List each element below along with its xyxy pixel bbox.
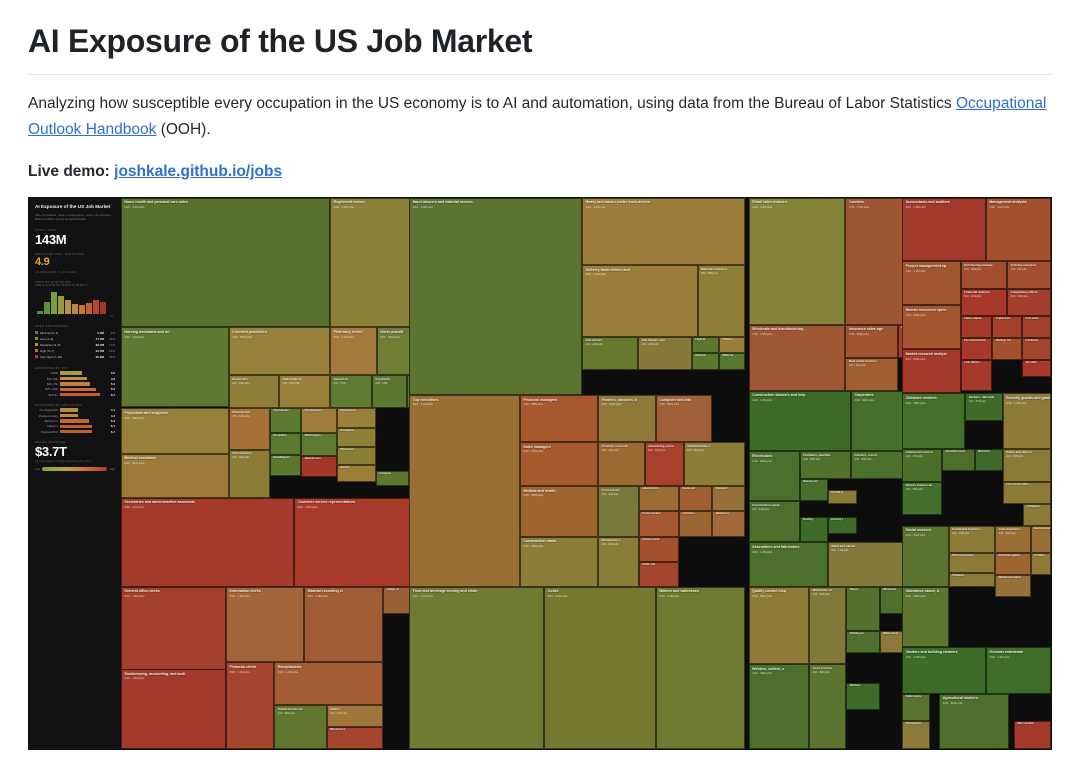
tile-score-jobs: 9/10 · 1.6M jobs [903,205,985,210]
tile-occupation-name: Bakers [847,588,878,592]
tile-score-jobs: 3/10 · 142k [373,381,405,385]
treemap-tile[interactable]: Water tra 3/10 · 70k [719,353,745,370]
treemap-tile[interactable]: Childcare workers 2/10 · 980k jobs [902,393,965,448]
tile-score-jobs: 2/10 · 360k jobs [810,670,845,674]
treemap-tile[interactable]: Taxi drivers, shu 3/10 · 440k jobs [638,337,692,370]
treemap-tile[interactable]: Plumbers, pipefitte 3/10 · 500k jobs [800,451,851,479]
treemap-tile[interactable]: Management analysts 7/10 · 1.0M jobs [986,198,1051,261]
tile-score-jobs: 5/10 · 320k jobs [599,543,638,547]
edu-bar [60,430,92,433]
tile-occupation-name: Social/appren [271,456,301,460]
area-breakdown-table: Minimal (0–1) 5.2M 4% Low (1–3) 47.2M 33… [35,330,115,360]
tile-score-jobs: 2/10 · 900k jobs [852,397,904,402]
treemap-tile[interactable]: Carpenters 2/10 · 900k jobs [851,391,905,452]
treemap-tile[interactable]: Construction equip 2/10 · 540k jobs [749,501,800,542]
tile-occupation-name: Social and [680,487,711,491]
edu-label: EXPOSURE BY EDUCATION [35,404,115,407]
treemap-tile[interactable]: Painting wo 2/10 · 140k [846,631,879,653]
edu-label: Bachelor's [35,419,58,423]
tile-score-jobs: 2/10 · 1.0M jobs [122,334,228,339]
exposure-by-education-chart: No degree/HS 4.1 Postsecondary 4.2 Bache… [35,408,115,434]
treemap-tile[interactable]: Psychiatri 3/10 · 142k [372,375,406,408]
treemap-tile[interactable]: Postsecondary 7/10 · 199k jobs [639,511,679,536]
treemap-tile[interactable]: Personal financial 9/10 · 283k jobs [961,338,993,360]
tile-occupation-name: Industrial enginee [996,554,1029,558]
treemap-tile[interactable]: Roofing 1/10 · 161k [800,517,828,542]
tile-score-jobs: 9/10 · 410k jobs [962,295,1007,299]
treemap-tile[interactable]: Bookkeeping, accounting, and audi 9/10 ·… [121,669,226,749]
tile-occupation-name: Probation [950,574,995,578]
intro-paragraph: Analyzing how susceptible every occupati… [28,91,1052,141]
tile-occupation-name: Airline p [720,338,744,342]
treemap-tile[interactable]: Industrial pro 6/10 · 310k jobs [639,486,679,511]
tile-score-jobs: 6/10 · 1.1M jobs [331,334,376,339]
pay-value: 4.6 [111,377,115,381]
tile-score-jobs: 7/10 · 1.0M jobs [987,205,1050,210]
treemap-tile[interactable]: Financial managers 7/10 · 985k jobs [520,395,598,442]
treemap-tile[interactable]: Barbers, hairstyle 1/10 · 374k jobs [965,393,1002,421]
tile-occupation-name: Fundraiser [1023,339,1050,343]
breakdown-label: Very high (7–10) [40,354,86,360]
edu-value: 4.1 [111,408,115,412]
treemap-tile[interactable]: Wholesale and manufacturing 7/10 · 1.5M … [749,325,846,391]
treemap-tile[interactable]: Electricians 2/10 · 815k jobs [749,451,800,501]
treemap-tile[interactable]: Delivery truck drivers and 4/10 · 1.1M j… [582,265,697,337]
color-legend: Low High [35,467,115,471]
treemap-tile[interactable]: Industrial enginee 4/10 · 313k jobs [995,553,1030,575]
tile-score-jobs: 3/10 · 2.1M jobs [657,594,744,599]
treemap-tile[interactable]: Financial clerks 8/10 · 1.1M jobs [226,662,274,749]
tile-occupation-name: Flight at [693,338,718,342]
treemap-tile[interactable]: Flooring i 1/10 · 90k [828,517,857,534]
edu-bar [60,425,92,428]
treemap-visualization[interactable]: AI Exposure of the US Job Market 342 occ… [28,197,1052,750]
treemap-tile[interactable]: Architects 5/10 · 130k [679,511,712,536]
tile-occupation-name: Physician as [338,409,375,413]
tile-occupation-name: Claims adjuste [962,317,992,321]
treemap-tile[interactable]: Bus drivers 2/10 · 440k jobs [582,337,638,370]
tile-score-jobs: 3/10 · 4.1M jobs [410,594,543,599]
tile-score-jobs: 4/10 · 1.1M jobs [583,272,696,277]
edu-row: Master's 6.7 [35,424,115,428]
treemap-tile[interactable]: Janitors and building cleaners 1/10 · 2.… [902,647,986,693]
treemap-tile[interactable]: Construction mana 3/10 · 500k jobs [520,537,598,587]
tile-occupation-name: Personal financial [962,339,992,343]
tile-occupation-name: Occupation [271,434,301,438]
live-demo-link[interactable]: joshkale.github.io/jobs [114,163,282,180]
tile-occupation-name: Physical as [338,448,375,452]
tile-score-jobs: 1/10 · 1.3M jobs [987,654,1050,659]
tile-occupation-name: Roofing [801,518,827,522]
treemap-tile[interactable]: Occupation 2/10 · 155k [337,428,376,447]
tile-occupation-name: Occupation [338,429,375,433]
tile-occupation-name: Drywall pl [829,491,856,495]
tile-occupation-name: Painting wo [847,632,878,636]
treemap-tile[interactable]: Probation 4/10 · 90k [949,573,996,587]
treemap-tile[interactable]: Physical thera 5/10 · 190k [301,408,336,432]
treemap-tile[interactable]: Food process 2/10 · 360k jobs [809,664,846,749]
histogram-bar [86,303,92,314]
treemap-tile[interactable]: Physical ther 2/10 · 265k jobs [270,408,302,433]
viz-subtitle: 342 occupations · area = employment · co… [35,213,115,222]
tile-occupation-name: Meeting, con [993,339,1021,343]
tile-score-jobs: 4/10 · 657k jobs [230,334,329,339]
treemap-tile[interactable]: Substance abuse, b 3/10 · 450k jobs [902,587,949,648]
pay-bar [60,382,90,385]
tile-occupation-name: Public works [903,695,929,699]
edu-row: Bachelor's 6.3 [35,419,115,423]
treemap-tile[interactable]: Cost estim 8/10 · 210k [1022,316,1051,338]
treemap-tile[interactable]: Meeting, con 7/10 · 140k [992,338,1022,360]
treemap-tile[interactable]: Correctional office 2/10 · 411k jobs [1003,482,1051,504]
edu-bar [60,408,78,411]
tile-score-jobs: 1/10 · 1.8M jobs [750,397,850,402]
pay-label: <$40k [35,371,58,375]
avg-exposure-value: 4.9 [35,257,115,269]
treemap-tile[interactable]: Claims adjuste 9/10 · 320k jobs [961,316,993,338]
tile-score-jobs: 7/10 · 607k jobs [657,402,711,407]
tile-score-jobs: 4/10 · 2.2M jobs [583,205,744,210]
tile-score-jobs: 4/10 · 177k [331,381,371,385]
tile-occupation-name: Electrical and e [1032,527,1050,531]
treemap-tile[interactable]: Doctors 4/10 · 110k [337,465,376,482]
treemap-tile[interactable]: Pharmacy techni 6/10 · 1.1M jobs [330,327,377,375]
tile-score-jobs: 4/10 · 310k jobs [685,448,744,452]
treemap-tile[interactable]: School and career 3/10 · 370k jobs [949,553,996,572]
treemap-tile[interactable]: Receptionists 7/10 · 1.0M jobs [274,662,383,705]
tile-score-jobs: 7/10 · 1.5M jobs [750,331,845,336]
treemap-tile[interactable]: Human resour 7/10 · 220k [639,537,679,562]
tile-score-jobs: 2/10 · 860k jobs [940,700,1008,705]
tile-occupation-name: Masonry wo [801,480,827,484]
tile-score-jobs: 2/10 · 380k jobs [852,457,904,461]
wages-value: $3.7T [35,445,115,459]
histogram-bar [100,302,106,314]
treemap-tile[interactable]: Loan officers 9/10 · 180k jobs [961,360,993,390]
treemap-tile[interactable]: Civil engineers 4/10 · 330k jobs [995,526,1030,554]
pay-bar [60,393,100,396]
tile-score-jobs: 3/10 · 500k jobs [801,457,850,461]
title-divider [28,74,1052,75]
tile-occupation-name: Industrial pro [640,487,678,491]
treemap-tile[interactable]: Railroad 4/10 · 80k [692,353,719,370]
treemap-tile[interactable]: Metal and plastic 2/10 · 1.1M jobs [828,542,905,587]
tile-score-jobs: 1/10 · 374k jobs [966,399,1001,403]
treemap-tile[interactable]: Information clerks 7/10 · 1.3M jobs [226,587,304,662]
treemap-tile[interactable]: Security guards and gambling su 2/10 · 1… [1003,393,1051,448]
viz-title: AI Exposure of the US Job Market [35,204,115,210]
treemap-tile[interactable]: Photographe 4/10 · 70k [902,721,930,749]
tile-score-jobs: 4/10 · 698k jobs [122,415,228,420]
treemap-tile[interactable]: Data scientist 9/10 · 200k [1014,721,1051,749]
treemap-tile[interactable]: Social and 5/10 · 170k [679,486,712,511]
edu-label: Postsecondary [35,414,58,418]
pay-row: $60–75k 5.0 [35,382,115,386]
treemap-tile[interactable]: Electrical and e 4/10 · 190k jobs [1031,526,1051,554]
treemap-tile[interactable]: Dietat wkrs 3/10 · 260k jobs [229,375,279,408]
treemap-tile[interactable]: Machinists an 2/10 · 390k jobs [809,587,846,664]
histogram-bar [51,292,57,314]
treemap-tile[interactable]: Material moving w 3/10 · 685k jobs [698,265,745,337]
pay-label: $75–100k [35,387,58,391]
treemap-tile[interactable]: Medical recor 9/10 · 186k [301,456,336,477]
histogram-tick: 0 [37,315,38,318]
treemap-tile[interactable]: Construction laborers and help 1/10 · 1.… [749,391,851,452]
treemap-tile[interactable]: Purchasing manage 7/10 · 606k jobs [961,261,1008,289]
tile-score-jobs: 6/10 · 400k jobs [599,448,644,452]
pay-label: $100k+ [35,393,58,397]
treemap-tile[interactable]: Compone 2/10 · 60k [376,471,409,486]
tile-score-jobs: 8/10 · 1.8M jobs [122,594,225,599]
treemap-tile[interactable]: Material recording cl 3/10 · 1.3M jobs [304,587,383,662]
pay-bar [60,371,82,374]
treemap-tile[interactable]: Radiologic an 4/10 · 227k jobs [279,375,330,408]
treemap-tile[interactable]: Financial analysts 9/10 · 410k jobs [961,289,1008,317]
tile-score-jobs: 3/10 · 580k jobs [750,594,808,599]
treemap-tile[interactable]: Physician as 4/10 · 161k [337,408,376,428]
treemap-tile[interactable]: Flight at 3/10 · 120k [692,337,719,354]
treemap-tile[interactable]: Project management sp 7/10 · 1.0M jobs [902,261,961,305]
treemap-tile[interactable]: Public works 3/10 · 80k [902,694,930,722]
tile-score-jobs: 2/10 · 440k jobs [583,343,637,347]
treemap-tile[interactable]: Market research analyst 9/10 · 843k jobs [902,349,961,393]
tile-score-jobs: 1/10 · 375k jobs [903,488,941,492]
live-demo-line: Live demo: joshkale.github.io/jobs [28,160,1052,183]
tile-score-jobs: 2/10 · 1.2M jobs [750,549,827,554]
tile-occupation-name: Correctional office [1004,483,1050,487]
tile-score-jobs: 6/10 · 590k jobs [521,493,597,498]
tile-score-jobs: 3/10 · 440k jobs [639,343,691,347]
tile-score-jobs: 2/10 · 4.1M jobs [122,205,329,210]
tile-occupation-name: Doctors [338,466,375,470]
treemap-tile[interactable]: Welders, cutters, s 2/10 · 430k jobs [749,664,809,749]
breakdown-row: Very high (7–10) 25.2M 25% [35,354,115,360]
treemap-tile[interactable]: Elementary s 5/10 · 320k jobs [598,537,639,587]
pay-value: 5.0 [111,382,115,386]
tile-score-jobs: 3/10 · 366k jobs [230,456,269,460]
treemap-tile[interactable]: Social workers 3/10 · 811k jobs [902,526,949,587]
exposure-by-pay-chart: <$40k 3.6 $40–60k 4.6 $60–75k 5.0 $75–10… [35,371,115,397]
tile-score-jobs: 2/10 · 1.1M jobs [829,548,904,552]
treemap-tile[interactable]: Dietat hygien 3/10 · 213k [301,433,336,456]
tile-occupation-name: Medical recor [302,457,335,461]
histogram-bar [72,304,78,314]
treemap-tile[interactable]: Animal care and se 2/10 · 470k jobs [902,449,942,482]
treemap-tile[interactable]: Compliance officer 8/10 · 410k jobs [1007,289,1051,317]
exposure-histogram [35,292,115,314]
edu-row: Doctoral/Prof 6.7 [35,430,115,434]
treemap-tile[interactable]: Drywall pl 3/10 · 150k [828,490,857,504]
tile-occupation-name: Natural sci [713,512,744,516]
tile-occupation-name: Architects [680,512,711,516]
tile-occupation-name: Woodwork [881,588,904,592]
treemap-tile[interactable]: Nursing assistants and ori 2/10 · 1.0M j… [121,327,229,407]
treemap-tile[interactable]: Occupation 2/10 · 141k [270,433,302,455]
tile-occupation-name: Recreation work [943,450,974,454]
tile-score-jobs: 7/10 · 1.3M jobs [227,594,303,599]
histogram-sublabel: (WEIGHTED BY EMPLOYMENT) [35,284,115,287]
tile-occupation-name: Architect [1032,554,1050,558]
treemap-tile[interactable]: Top executives 6/10 · 4.1M jobs [409,395,520,587]
tile-score-jobs: 2/10 · 540k jobs [750,507,799,511]
pay-value: 6.0 [111,387,115,391]
treemap-tile[interactable]: Home health and personal care aides 2/10… [121,198,330,327]
treemap-tile[interactable]: Fundraiser 8/10 · 120k [1022,338,1051,360]
histogram-bar [93,300,99,314]
treemap-tile[interactable]: Medical assistants 6/10 · 815k jobs [121,454,229,498]
treemap-tile[interactable]: Administrative s 4/10 · 310k jobs [684,442,745,486]
tile-occupation-name: Physical thera [302,409,335,413]
pay-row: $75–100k 6.0 [35,387,115,391]
treemap-tile[interactable]: Licensed practical a 4/10 · 657k jobs [229,327,330,375]
treemap-tile[interactable]: Assemblers and fabricators 2/10 · 1.2M j… [749,542,828,587]
treemap-tile[interactable]: Food service 4/10 · 320k jobs [598,486,639,537]
edu-value: 6.7 [111,424,115,428]
treemap-tile[interactable]: Judges, m 5/10 · 60k [383,587,411,615]
tile-occupation-name: Butchers [847,684,878,688]
tile-score-jobs: 9/10 · 1.6M jobs [122,676,225,681]
tile-score-jobs: 2/10 · 1.3M jobs [1004,400,1050,405]
treemap-tile[interactable]: Retail sales workers 4/10 · 4.0M jobs [749,198,846,325]
edu-value: 6.7 [111,430,115,434]
legend-low-label: Low [35,468,40,471]
treemap-tile[interactable]: Recreation work 2/10 · 430k jobs [942,449,975,471]
tile-score-jobs: 6/10 · 622k jobs [521,449,597,454]
tile-occupation-name: Tax exam [1023,361,1050,365]
tile-score-jobs: 2/10 · 430k jobs [750,671,808,676]
histogram-axis: 0510 [35,314,115,318]
tile-occupation-name: Firefighters [1024,505,1050,509]
treemap-tile[interactable]: Painters, constr 2/10 · 380k jobs [851,451,905,479]
treemap-tile[interactable]: Bill and acco 8/10 · 311k jobs [327,727,384,748]
tile-occupation-name: Transport [713,487,744,491]
tile-occupation-name: Compone [377,472,408,476]
treemap-tile[interactable]: Grounds maintenan 1/10 · 1.3M jobs [986,647,1051,693]
tile-score-jobs: 4/10 · 320k jobs [599,492,638,496]
treemap-tile[interactable]: Secretaries and administrative assistant… [121,498,294,587]
treemap-tile[interactable]: Quality control insp 3/10 · 580k jobs [749,587,809,664]
intro-text-after: (OOH). [156,121,210,138]
tile-score-jobs: 1/10 · 2.4M jobs [903,654,985,659]
tile-score-jobs: 7/10 · 1.0M jobs [903,268,960,273]
treemap-canvas[interactable]: Home health and personal care aides 2/10… [121,198,1051,749]
treemap-tile[interactable]: Hand laborers and material movers 2/10 ·… [409,198,582,395]
treemap-tile[interactable]: Butchers 1/10 · 130k [846,683,879,711]
treemap-tile[interactable]: Pharmacists 7/10 · 333k jobs [229,408,270,449]
treemap-tile[interactable]: Farmers, ranchers, a 4/10 · 826k jobs [598,395,656,442]
pay-label: $40–60k [35,377,58,381]
breakdown-value: 25.2M [86,354,104,360]
viz-sidebar: AI Exposure of the US Job Market 342 occ… [29,198,121,749]
treemap-tile[interactable]: Food and beverage serving and relate 3/1… [409,587,544,749]
treemap-tile[interactable]: Cooks 4/10 · 2.4M jobs [544,587,656,749]
treemap-tile[interactable]: Social and human s 3/10 · 430k jobs [949,526,996,554]
tile-score-jobs: 7/10 · 90k jobs [1008,267,1050,271]
treemap-tile[interactable]: Tellers 2/10 · 347k jobs [327,705,384,727]
pay-row: $40–60k 4.6 [35,377,115,381]
tile-score-jobs: 7/10 · 844k jobs [903,312,960,317]
treemap-tile[interactable]: Accountants and auditors 9/10 · 1.6M job… [902,198,986,261]
treemap-tile[interactable]: Waiters and waitresses 3/10 · 2.1M jobs [656,587,745,749]
edu-bar [60,414,78,417]
edu-bar [60,419,89,422]
treemap-tile[interactable]: Fitness trainers an 1/10 · 375k jobs [902,482,942,515]
tile-score-jobs: 9/10 · 3.1M jobs [122,504,293,509]
tile-score-jobs: 8/10 · 410k jobs [1008,295,1050,299]
treemap-tile[interactable]: Tax exam 9/10 · 50k [1022,360,1051,377]
pay-row: $100k+ 6.7 [35,393,115,397]
histogram-bar [44,302,50,314]
treemap-tile[interactable]: Computer and info 7/10 · 607k jobs [656,395,712,442]
treemap-tile[interactable]: Medical and health 6/10 · 590k jobs [520,486,598,537]
tile-score-jobs: 4/10 · 826k jobs [599,402,655,407]
tile-occupation-name: Judges, m [384,588,410,592]
treemap-tile[interactable]: Advertising, prom 8/10 · 330k jobs [645,442,684,486]
tile-score-jobs: 4/10 · 330k jobs [996,532,1029,536]
edu-row: No degree/HS 4.1 [35,408,115,412]
tile-occupation-name: Postsecondary [640,512,678,516]
tile-score-jobs: 4/10 · 500k jobs [275,711,325,715]
tile-occupation-name: Cost estim [1023,317,1050,321]
treemap-tile[interactable]: Postal service wo 4/10 · 500k jobs [274,705,326,749]
treemap-tile[interactable]: Natural sci 5/10 · 90k [712,511,745,536]
treemap-tile[interactable]: Manicuris 1/10 · 160k [975,449,1003,471]
tile-occupation-name: Dietat hygien [302,434,335,438]
treemap-tile[interactable]: Agricultural workers 2/10 · 860k jobs [939,694,1009,749]
treemap-tile[interactable]: Mechanical engine 4/10 · 280k jobs [995,575,1030,597]
treemap-tile[interactable]: Vet'l and pers 3/10 · 366k jobs [229,450,270,498]
tile-score-jobs: 7/10 · 985k jobs [521,402,597,407]
treemap-tile[interactable]: Firefighters 2/10 · 328k jobs [1023,504,1051,526]
tile-occupation-name: Manicuris [976,450,1002,454]
treemap-tile[interactable]: Architect 5/10 · 100k [1031,553,1051,575]
treemap-tile[interactable]: Training and deve 7/10 · 90k jobs [1007,261,1051,289]
treemap-tile[interactable]: Insurance sales age 7/10 · 600k jobs [845,325,897,358]
edu-value: 4.2 [111,414,115,418]
treemap-tile[interactable]: Heavy and tractor-trailer truck drivers … [582,198,745,265]
treemap-tile[interactable]: Property, real esta 6/10 · 400k jobs [598,442,645,486]
tile-occupation-name: Loan officers [962,361,992,365]
page-title: AI Exposure of the US Job Market [28,22,1052,60]
treemap-tile[interactable]: Public rela 8/10 · 90k [639,562,679,587]
treemap-tile[interactable]: Physicians and surgeons 4/10 · 698k jobs [121,408,229,453]
tile-score-jobs: 3/10 · 500k jobs [521,543,597,548]
treemap-tile[interactable]: Airline p 3/10 · 110k [719,337,745,354]
histogram-bar [37,311,43,314]
pay-value: 3.6 [111,371,115,375]
treemap-tile[interactable]: Masonry wo 2/10 · 230k jobs [800,479,828,501]
treemap-tile[interactable]: Physical as 3/10 · 120k [337,447,376,465]
tile-score-jobs: 7/10 · 600k jobs [846,331,896,336]
treemap-tile[interactable]: Real estate brokers 6/10 · 557k jobs [845,358,897,391]
tile-occupation-name: Physical ther [271,409,301,413]
treemap-tile[interactable]: Bakers 3/10 · 190k jobs [846,587,879,631]
tile-occupation-name: Logisticians [993,317,1021,321]
treemap-tile[interactable]: Speech la 4/10 · 177k [330,375,372,408]
tile-score-jobs: 4/10 · 227k jobs [280,381,329,385]
tile-score-jobs: 2/10 · 470k jobs [903,455,941,459]
treemap-tile[interactable]: Police and detecti 2/10 · 807k jobs [1003,449,1051,482]
tile-score-jobs: 4/10 · 4.0M jobs [750,205,845,210]
treemap-tile[interactable]: Transport 4/10 · 140k [712,486,745,511]
treemap-tile[interactable]: Logisticians 8/10 · 220k [992,316,1022,338]
treemap-tile[interactable]: Sales managers 6/10 · 622k jobs [520,442,598,486]
tile-score-jobs: 2/10 · 807k jobs [1004,455,1050,459]
pay-value: 6.7 [111,393,115,397]
treemap-tile[interactable]: Social/appren 2/10 · 120k [270,455,302,476]
histogram-tick: 5 [74,315,75,318]
treemap-tile[interactable]: Human resources speci 7/10 · 844k jobs [902,305,961,349]
